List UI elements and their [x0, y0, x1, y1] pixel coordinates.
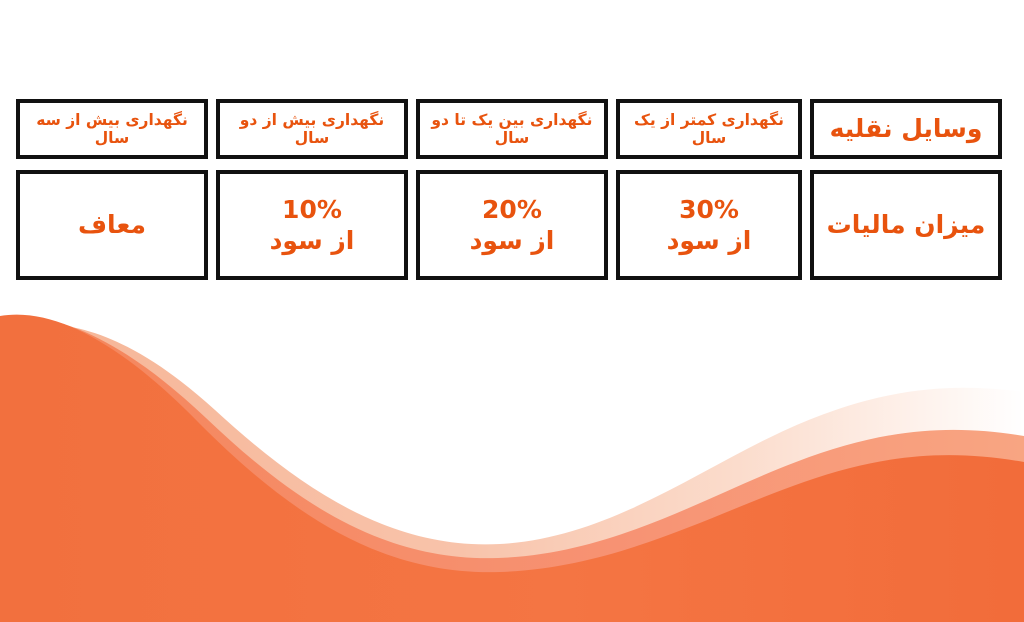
table-body-cell-one-to-two-years: 20% از سود: [416, 170, 608, 280]
tax-rate-suffix-over-three-years: معاف: [26, 210, 198, 240]
tax-rate-over-three-years: معاف: [26, 210, 198, 240]
tax-rate-over-two-years: 10% از سود: [226, 195, 398, 256]
orange-wave-graphic: [0, 300, 1024, 622]
tax-rate-suffix-over-two-years: از سود: [226, 226, 398, 256]
table-body-row: میزان مالیات 30% از سود 20% از سود 10% ا…: [16, 170, 1002, 280]
wave-layer-tint: [0, 324, 1024, 622]
table-header-text-under-one-year: نگهداری کمتر از یک سال: [626, 111, 792, 148]
table-header-label-cell: وسایل نقلیه: [810, 99, 1002, 159]
table-header-text-one-to-two-years: نگهداری بین یک تا دو سال: [426, 111, 598, 148]
table-header-row: وسایل نقلیه نگهداری کمتر از یک سال نگهدا…: [16, 99, 1002, 159]
wave-layer-main: [0, 315, 1024, 622]
vehicle-tax-rate-table: وسایل نقلیه نگهداری کمتر از یک سال نگهدا…: [16, 99, 1002, 280]
tax-rate-suffix-under-one-year: از سود: [626, 226, 792, 256]
wave-layer-soft: [0, 316, 1024, 622]
tax-rate-percent-over-two-years: 10%: [226, 195, 398, 225]
table-header-cell-over-two-years: نگهداری بیش از دو سال: [216, 99, 408, 159]
tax-rate-under-one-year: 30% از سود: [626, 195, 792, 256]
table-body-cell-over-two-years: 10% از سود: [216, 170, 408, 280]
table-header-label-text: وسایل نقلیه: [820, 114, 992, 144]
tax-rate-percent-under-one-year: 30%: [626, 195, 792, 225]
tax-rate-percent-one-to-two-years: 20%: [426, 195, 598, 225]
table-body-label-text: میزان مالیات: [820, 210, 992, 240]
table-header-text-over-two-years: نگهداری بیش از دو سال: [226, 111, 398, 148]
tax-rate-suffix-one-to-two-years: از سود: [426, 226, 598, 256]
table-header-cell-under-one-year: نگهداری کمتر از یک سال: [616, 99, 802, 159]
table-body-label-cell: میزان مالیات: [810, 170, 1002, 280]
table-header-text-over-three-years: نگهداری بیش از سه سال: [26, 111, 198, 148]
tax-rate-one-to-two-years: 20% از سود: [426, 195, 598, 256]
table-header-cell-over-three-years: نگهداری بیش از سه سال: [16, 99, 208, 159]
table-body-cell-over-three-years: معاف: [16, 170, 208, 280]
table-header-cell-one-to-two-years: نگهداری بین یک تا دو سال: [416, 99, 608, 159]
table-body-cell-under-one-year: 30% از سود: [616, 170, 802, 280]
